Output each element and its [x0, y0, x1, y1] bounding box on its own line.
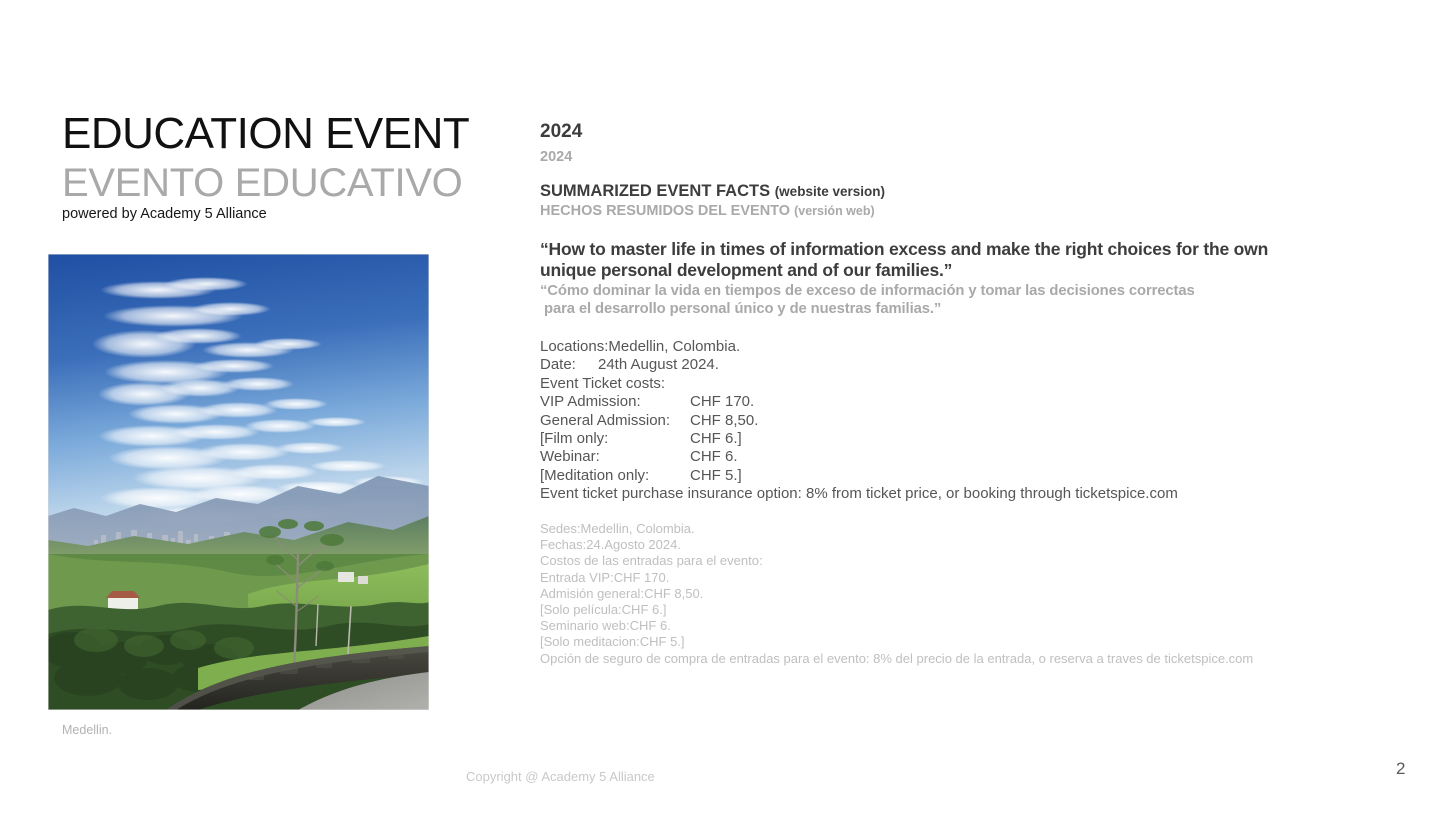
year-label-en: 2024	[540, 121, 582, 143]
detail-row-label: Locations:	[540, 338, 608, 356]
detail-row-value: CHF 6.	[630, 618, 671, 633]
detail-row-label: Webinar:	[540, 448, 690, 466]
detail-row-value: CHF 6.]	[690, 430, 742, 448]
facts-heading-en-sub: (website version)	[775, 184, 885, 199]
detail-row-value: 24.Agosto 2024.	[586, 537, 681, 552]
detail-row: Entrada VIP:CHF 170.	[540, 570, 1253, 586]
facts-heading-en: SUMMARIZED EVENT FACTS (website version)	[540, 181, 885, 202]
detail-row: Event Ticket costs:	[540, 375, 1178, 393]
facts-heading-es-sub: (versión web)	[794, 204, 875, 218]
detail-row-value: CHF 5.]	[690, 467, 742, 485]
detail-row-label: Event Ticket costs:	[540, 375, 665, 393]
medellin-photo	[48, 254, 429, 710]
page-number: 2	[1396, 759, 1405, 779]
detail-row: Admisión general:CHF 8,50.	[540, 586, 1253, 602]
detail-row: General Admission:CHF 8,50.	[540, 412, 1178, 430]
detail-row-value: CHF 170.	[614, 570, 670, 585]
detail-row-label: General Admission:	[540, 412, 690, 430]
detail-row-label: Costos de las entradas para el evento:	[540, 553, 763, 568]
detail-row: VIP Admission:CHF 170.	[540, 393, 1178, 411]
event-details-es-rows: Sedes:Medellin, Colombia.Fechas:24.Agost…	[540, 521, 1253, 651]
event-details-en: Locations:Medellin, Colombia.Date:24th A…	[540, 338, 1178, 504]
detail-row-label: [Film only:	[540, 430, 690, 448]
photo-caption: Medellin.	[62, 723, 112, 737]
detail-row-label: Seminario web:	[540, 618, 630, 633]
detail-row-value: CHF 8,50.	[644, 586, 703, 601]
copyright-footer: Copyright @ Academy 5 Alliance	[466, 769, 655, 784]
page-title-spanish: EVENTO EDUCATIVO	[62, 160, 462, 206]
detail-row-value: CHF 8,50.	[690, 412, 758, 430]
facts-heading-en-main: SUMMARIZED EVENT FACTS	[540, 182, 770, 200]
event-quote-es: “Cómo dominar la vida en tiempos de exce…	[540, 282, 1320, 318]
facts-heading-es: HECHOS RESUMIDOS DEL EVENTO (versión web…	[540, 202, 875, 220]
detail-row-label: Date:	[540, 356, 598, 374]
quote-es-line2: para el desarrollo personal único y de n…	[540, 300, 1320, 318]
detail-row: Seminario web:CHF 6.	[540, 618, 1253, 634]
facts-heading-es-main: HECHOS RESUMIDOS DEL EVENTO	[540, 203, 790, 219]
detail-row: [Solo meditacion:CHF 5.]	[540, 634, 1253, 650]
detail-row: Date:24th August 2024.	[540, 356, 1178, 374]
powered-by-label: powered by Academy 5 Alliance	[62, 205, 267, 223]
detail-row: Locations:Medellin, Colombia.	[540, 338, 1178, 356]
detail-row-label: [Solo película:	[540, 602, 622, 617]
detail-row-label: Sedes:	[540, 521, 580, 536]
detail-row-value: CHF 5.]	[640, 634, 685, 649]
detail-row-value: 24th August 2024.	[598, 356, 719, 374]
slide-canvas: EDUCATION EVENT EVENTO EDUCATIVO powered…	[0, 0, 1445, 813]
quote-en-line1: “How to master life in times of informat…	[540, 239, 1171, 259]
page-title: EDUCATION EVENT	[62, 108, 469, 160]
photo-illustration	[48, 254, 429, 710]
detail-row-label: Admisión general:	[540, 586, 644, 601]
detail-row: [Meditation only:CHF 5.]	[540, 467, 1178, 485]
detail-row-value: CHF 6.	[690, 448, 738, 466]
event-details-en-rows: Locations:Medellin, Colombia.Date:24th A…	[540, 338, 1178, 485]
event-details-es: Sedes:Medellin, Colombia.Fechas:24.Agost…	[540, 521, 1253, 667]
insurance-note-en: Event ticket purchase insurance option: …	[540, 485, 1178, 503]
detail-row-label: [Solo meditacion:	[540, 634, 640, 649]
detail-row-label: [Meditation only:	[540, 467, 690, 485]
detail-row: [Film only:CHF 6.]	[540, 430, 1178, 448]
event-quote-en: “How to master life in times of informat…	[540, 239, 1300, 281]
detail-row: Sedes:Medellin, Colombia.	[540, 521, 1253, 537]
quote-es-line1: “Cómo dominar la vida en tiempos de exce…	[540, 283, 1195, 299]
insurance-note-es: Opción de seguro de compra de entradas p…	[540, 651, 1253, 667]
detail-row: Webinar:CHF 6.	[540, 448, 1178, 466]
detail-row-label: VIP Admission:	[540, 393, 690, 411]
year-label-es: 2024	[540, 148, 572, 166]
detail-row: Fechas:24.Agosto 2024.	[540, 537, 1253, 553]
detail-row-value: Medellin, Colombia.	[608, 338, 740, 356]
detail-row-label: Entrada VIP:	[540, 570, 614, 585]
detail-row-value: CHF 170.	[690, 393, 754, 411]
detail-row: Costos de las entradas para el evento:	[540, 553, 1253, 569]
detail-row-value: CHF 6.]	[622, 602, 667, 617]
detail-row-label: Fechas:	[540, 537, 586, 552]
detail-row-value: Medellin, Colombia.	[580, 521, 694, 536]
detail-row: [Solo película:CHF 6.]	[540, 602, 1253, 618]
